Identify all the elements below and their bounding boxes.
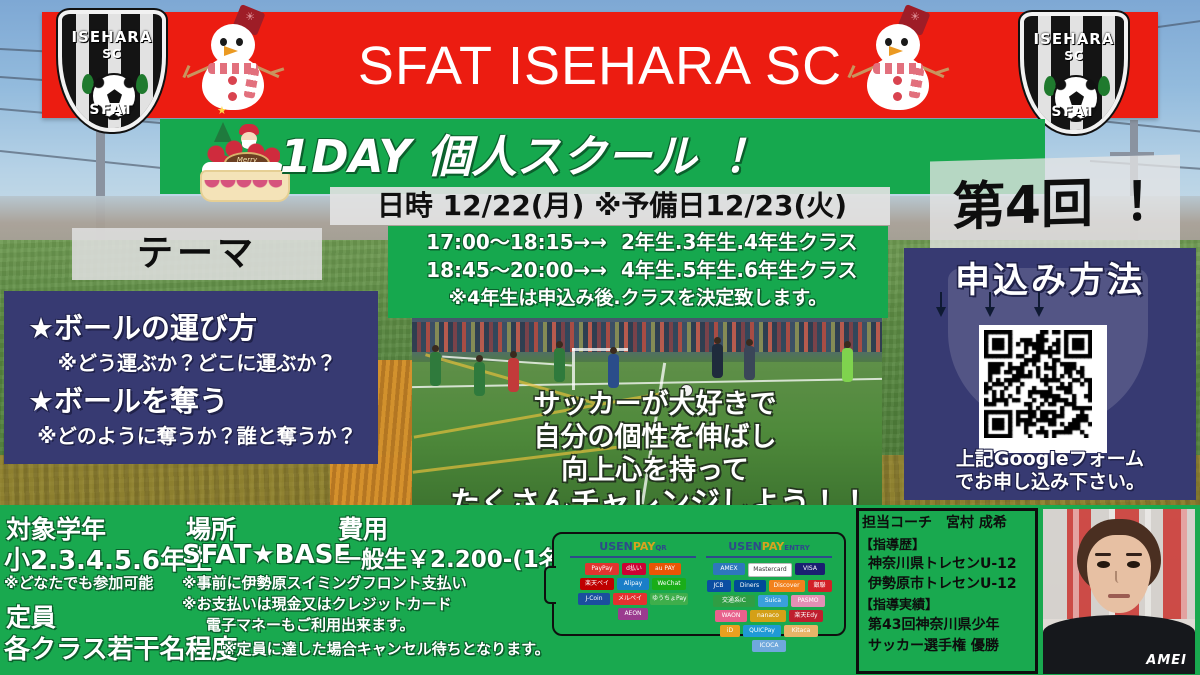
payment-chip: WAON (715, 610, 747, 622)
schedule-time: 17:00～18:15→→ (392, 229, 621, 256)
christmas-cake-icon: MerryChristmas (198, 118, 288, 204)
coach-section-title: 【指導歴】 (860, 534, 925, 553)
payment-chip: d払い (622, 563, 646, 575)
theme-label: テーマ (76, 230, 318, 278)
coach-history-line: 神奈川県トレセンU-12 (868, 553, 1017, 573)
place-note: 電子マネーもご利用出来ます。 (206, 614, 415, 635)
usen-qr-method-list: PayPay d払い au PAY 楽天ペイ Alipay WeChat J-C… (568, 563, 698, 620)
payment-chip: Suica (758, 595, 788, 607)
poster-subtitle: 1DAY 個人スクール ！ (280, 122, 900, 192)
crest-sc-text: SC (1024, 49, 1124, 63)
theme-item-heading: ★ボールを奪う (28, 382, 390, 420)
down-arrows (935, 292, 1045, 318)
payment-chip: 楽天Edy (789, 610, 823, 622)
event-date-text: 日時 12/22(月) ※予備日12/23(火) (336, 188, 888, 224)
payment-chip: iD (720, 625, 740, 637)
payment-chip: 銀聯 (808, 580, 832, 592)
schedule-row: 18:45～20:00→→4年生.5年生.6年生クラス (392, 257, 884, 284)
usen-pay-word: PAY (633, 540, 655, 553)
payment-chip: Kitaca (784, 625, 818, 637)
usen-pay-entry-heading: USENPAYENTRY (704, 540, 834, 553)
crest-sfat-text: SFAT (1024, 104, 1124, 120)
arrow-down-icon (1033, 292, 1045, 318)
coach-result-line: サッカー選手権 優勝 (868, 635, 999, 655)
usen-pay-panel: USENPAYQR PayPay d払い au PAY 楽天ペイ Alipay … (552, 532, 846, 636)
usen-entry-method-list: AMEX Mastercard VISA JCB Diners Discover… (704, 563, 834, 652)
crest-isehara-text: ISEHARA (1030, 30, 1118, 48)
arrow-down-icon (984, 292, 996, 318)
theme-item-heading: ★ボールの運び方 (28, 309, 390, 347)
snowman-icon-left (190, 8, 276, 108)
theme-item-note: ※どう運ぶか？どこに運ぶか？ (16, 348, 378, 378)
schedule-row: 17:00～18:15→→2年生.3年生.4年生クラス (392, 229, 884, 256)
schedule-classes: 2年生.3年生.4年生クラス (621, 229, 858, 256)
payment-chip: au PAY (649, 563, 681, 575)
place-value: SFAT★BASE (182, 540, 351, 570)
grade-note: ※どなたでも参加可能 (4, 572, 153, 593)
coach-history-line: 伊勢原市トレセンU-12 (868, 573, 1017, 593)
poster-title: SFAT ISEHARA SC (330, 30, 870, 102)
capacity-value: 各クラス若干名程度 (4, 629, 237, 666)
usen-suffix: ENTRY (784, 544, 810, 552)
payment-chip: AEON (618, 608, 648, 620)
coach-portrait-photo: AMEI (1040, 506, 1198, 675)
payment-chip: Alipay (617, 578, 649, 590)
qr-code[interactable] (979, 325, 1107, 453)
schedule-classes: 4年生.5年生.6年生クラス (621, 257, 858, 284)
club-crest-right: ISEHARA SC SFAT (1020, 12, 1128, 134)
payment-chip: ICOCA (752, 640, 786, 652)
payment-chip: Discover (769, 580, 805, 592)
crest-isehara-text: ISEHARA (68, 28, 156, 46)
coach-section-title: 【指導実績】 (860, 594, 938, 613)
payment-chip: AMEX (713, 563, 745, 575)
payment-chip: PASMO (791, 595, 825, 607)
payment-chip: Mastercard (748, 563, 792, 577)
poster-root: ISEHARA SC SFAT ISEHARA SC SFAT (0, 0, 1200, 675)
usen-brand: USEN (599, 540, 633, 553)
payment-chip: ゆうちょPay (650, 593, 688, 605)
place-note: ※お支払いは現金又はクレジットカード (182, 593, 452, 614)
coach-name-line: 担当コーチ 宮村 成希 (862, 512, 1007, 532)
issue-number-text: 第4回 ！ (940, 157, 1176, 254)
theme-item-note: ※どのように奪うか？誰と奪うか？ (16, 421, 378, 451)
payment-chip: VISA (795, 563, 825, 575)
usen-pay-qr-heading: USENPAYQR (568, 540, 698, 553)
payment-chip: PayPay (585, 563, 619, 575)
club-crest-left: ISEHARA SC SFAT (58, 10, 166, 132)
schedule-time: 18:45～20:00→→ (392, 257, 621, 284)
payment-chip: nanaco (750, 610, 786, 622)
usen-pay-tab (544, 566, 556, 604)
jacket-logo-text: AMEI (1146, 653, 1187, 668)
payment-chip: メルペイ (613, 593, 647, 605)
divider (706, 556, 832, 558)
arrow-down-icon (935, 292, 947, 318)
payment-chip: Diners (734, 580, 766, 592)
payment-chip: JCB (707, 580, 731, 592)
payment-chip: QUICPay (743, 625, 781, 637)
payment-chip: WeChat (652, 578, 686, 590)
usen-pay-word: PAY (762, 540, 784, 553)
capacity-note: ※定員に達した場合キャンセル待ちとなります。 (222, 638, 550, 659)
schedule-note: ※4年生は申込み後.クラスを決定致します。 (392, 285, 884, 312)
crest-sfat-text: SFAT (62, 102, 162, 118)
apply-footer-line: でお申し込み下さい。 (906, 467, 1194, 494)
payment-chip: J-Coin (578, 593, 610, 605)
coach-result-line: 第43回神奈川県少年 (868, 614, 999, 634)
place-note: ※事前に伊勢原スイミングフロント支払い (182, 572, 467, 593)
fee-value: 一般生￥2.200-(1名) (338, 540, 572, 574)
crest-sc-text: SC (62, 47, 162, 61)
usen-brand: USEN (728, 540, 762, 553)
divider (570, 556, 696, 558)
usen-suffix: QR (655, 544, 666, 552)
usen-pay-qr-column: USENPAYQR PayPay d払い au PAY 楽天ペイ Alipay … (568, 540, 698, 620)
usen-pay-entry-column: USENPAYENTRY AMEX Mastercard VISA JCB Di… (704, 540, 834, 652)
payment-chip: 交通系IC (713, 595, 755, 607)
payment-chip: 楽天ペイ (580, 578, 614, 590)
